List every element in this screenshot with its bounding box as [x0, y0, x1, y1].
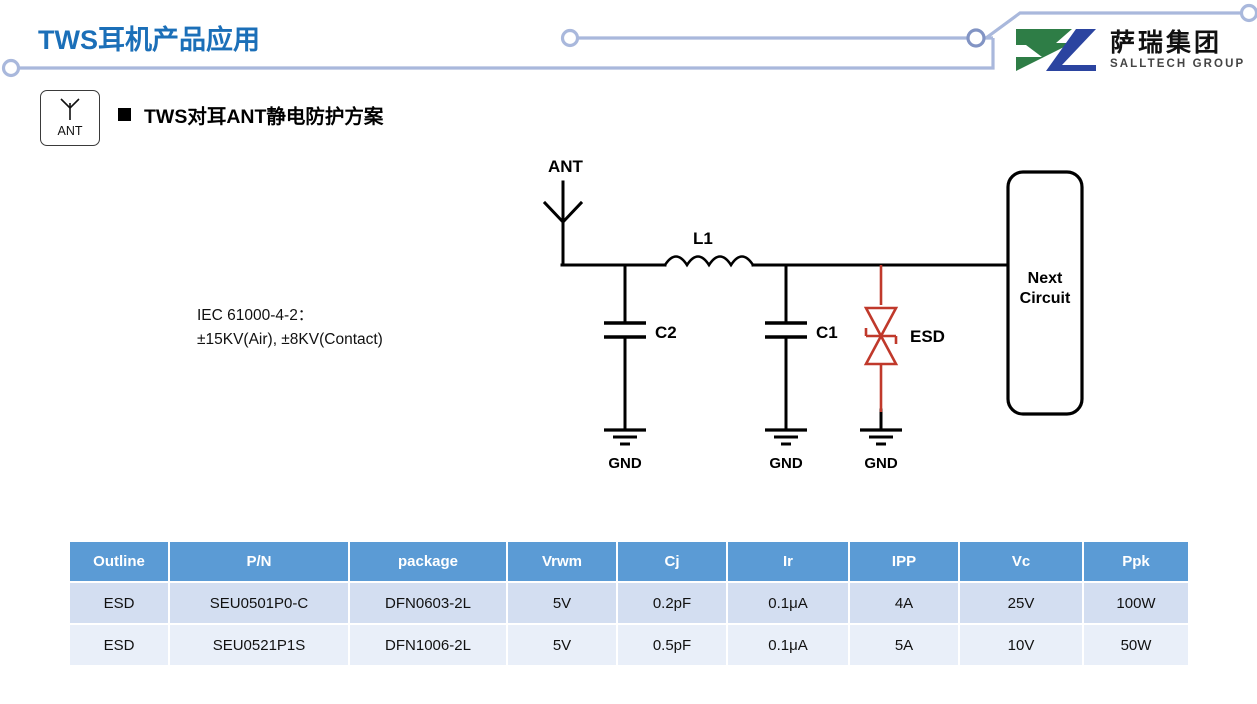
- esd-protection-circuit-diagram: ANT L1 C2 C1 ESD GND GND GND Next Circui…: [500, 160, 1120, 490]
- table-header-cell: Cj: [617, 542, 727, 582]
- label-c2: C2: [655, 323, 677, 342]
- logo-text: 萨瑞集团 SALLTECH GROUP: [1110, 30, 1245, 71]
- label-next-circuit-line2: Circuit: [1020, 290, 1071, 307]
- table-cell: DFN0603-2L: [349, 582, 507, 624]
- label-next-circuit-line1: Next: [1028, 270, 1063, 287]
- iec-standard-note: IEC 61000-4-2： ±15KV(Air), ±8KV(Contact): [197, 304, 383, 352]
- decor-node-junction: [968, 30, 984, 46]
- page-title: TWS耳机产品应用: [38, 18, 260, 57]
- salltech-sz-mark-icon: [1012, 25, 1100, 75]
- table-cell: 4A: [849, 582, 959, 624]
- table-cell: 5V: [507, 582, 617, 624]
- decor-node-right: [1242, 6, 1257, 21]
- junction-c1: [786, 265, 787, 266]
- table-cell: DFN1006-2L: [349, 624, 507, 666]
- table-cell: 5A: [849, 624, 959, 666]
- table-cell: ESD: [70, 582, 169, 624]
- table-cell: 0.1μA: [727, 624, 849, 666]
- decor-node-middle: [563, 31, 578, 46]
- table-row: ESD SEU0521P1S DFN1006-2L 5V 0.5pF 0.1μA…: [70, 624, 1188, 666]
- label-gnd3: GND: [864, 455, 898, 472]
- antenna-icon: [55, 96, 85, 122]
- esd-spec-table: Outline P/N package Vrwm Cj Ir IPP Vc Pp…: [70, 542, 1188, 667]
- logo-en-name: SALLTECH GROUP: [1110, 59, 1245, 71]
- esd-triangle-bottom: [866, 336, 896, 364]
- table-header-cell: Vc: [959, 542, 1083, 582]
- iec-note-line2: ±15KV(Air), ±8KV(Contact): [197, 328, 383, 352]
- ant-chip-icon-box: ANT: [40, 90, 100, 146]
- table-cell: 50W: [1083, 624, 1188, 666]
- table-header-cell: Vrwm: [507, 542, 617, 582]
- table-cell: 10V: [959, 624, 1083, 666]
- table-cell: 25V: [959, 582, 1083, 624]
- table-header-cell: Outline: [70, 542, 169, 582]
- label-esd: ESD: [910, 327, 945, 346]
- table-cell: SEU0521P1S: [169, 624, 349, 666]
- company-logo: 萨瑞集团 SALLTECH GROUP: [1012, 22, 1250, 78]
- section-heading: TWS对耳ANT静电防护方案: [118, 100, 383, 129]
- label-l1: L1: [693, 229, 713, 248]
- label-c1: C1: [816, 323, 838, 342]
- junction-c2: [625, 265, 626, 266]
- table-cell: ESD: [70, 624, 169, 666]
- esd-triangle-top: [866, 308, 896, 336]
- label-gnd1: GND: [608, 455, 642, 472]
- table-cell: 0.1μA: [727, 582, 849, 624]
- esd-tvs-symbol: [866, 265, 896, 412]
- logo-cn-name: 萨瑞集团: [1110, 30, 1245, 55]
- square-bullet-icon: [118, 108, 131, 121]
- table-cell: SEU0501P0-C: [169, 582, 349, 624]
- label-ant: ANT: [548, 160, 584, 176]
- inductor-coil: [665, 257, 753, 266]
- ant-chip-label: ANT: [58, 124, 83, 138]
- table-header-cell: Ppk: [1083, 542, 1188, 582]
- table-header-cell: package: [349, 542, 507, 582]
- table-cell: 0.2pF: [617, 582, 727, 624]
- iec-note-line1: IEC 61000-4-2：: [197, 304, 383, 328]
- table-header-cell: P/N: [169, 542, 349, 582]
- table-cell: 100W: [1083, 582, 1188, 624]
- table-header-cell: Ir: [727, 542, 849, 582]
- table-row: ESD SEU0501P0-C DFN0603-2L 5V 0.2pF 0.1μ…: [70, 582, 1188, 624]
- table-header-cell: IPP: [849, 542, 959, 582]
- table-cell: 5V: [507, 624, 617, 666]
- table-cell: 0.5pF: [617, 624, 727, 666]
- section-heading-text: TWS对耳ANT静电防护方案: [144, 100, 383, 129]
- decor-node-left: [4, 61, 19, 76]
- table-header-row: Outline P/N package Vrwm Cj Ir IPP Vc Pp…: [70, 542, 1188, 582]
- label-gnd2: GND: [769, 455, 803, 472]
